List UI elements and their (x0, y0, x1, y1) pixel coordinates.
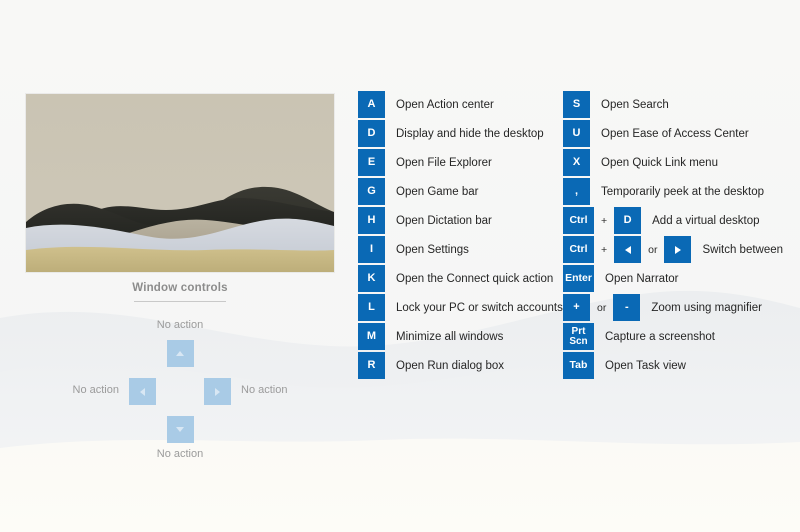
shortcut-description: Open Run dialog box (396, 360, 504, 372)
window-controls-section: Window controls No action No action No a… (26, 282, 334, 432)
key-x[interactable]: X (563, 149, 590, 176)
shortcut-description: Zoom using magnifier (651, 302, 762, 314)
shortcut-row: IOpen Settings (358, 235, 558, 264)
key-enter[interactable]: Enter (563, 265, 594, 292)
key-r[interactable]: R (358, 352, 385, 379)
shortcut-row: +or-Zoom using magnifier (563, 293, 800, 322)
arrow-right-icon[interactable] (664, 236, 691, 263)
shortcut-row: DDisplay and hide the desktop (358, 119, 558, 148)
shortcut-row: HOpen Dictation bar (358, 206, 558, 235)
shortcut-row: AOpen Action center (358, 90, 558, 119)
arrow-left-icon-glyph (625, 246, 631, 254)
shortcut-description: Add a virtual desktop (652, 215, 759, 227)
arrow-left-label: No action (73, 384, 119, 396)
arrow-down-label: No action (26, 448, 334, 460)
key-tab[interactable]: Tab (563, 352, 594, 379)
arrow-right-icon[interactable] (204, 378, 231, 405)
key-i[interactable]: I (358, 236, 385, 263)
shortcut-description: Lock your PC or switch accounts (396, 302, 563, 314)
shortcut-description: Switch between (702, 244, 783, 256)
shortcut-row: ROpen Run dialog box (358, 351, 558, 380)
shortcut-row: Ctrl+orSwitch between (563, 235, 800, 264)
wallpaper-thumbnail (26, 94, 334, 272)
shortcut-row: Ctrl+DAdd a virtual desktop (563, 206, 800, 235)
arrow-up-icon[interactable] (167, 340, 194, 367)
key-g[interactable]: G (358, 178, 385, 205)
key-[interactable]: , (563, 178, 590, 205)
arrow-left-icon[interactable] (614, 236, 641, 263)
key-prt-scn[interactable]: Prt Scn (563, 323, 594, 350)
key-a[interactable]: A (358, 91, 385, 118)
key-s[interactable]: S (563, 91, 590, 118)
shortcut-description: Open Dictation bar (396, 215, 492, 227)
key-ctrl[interactable]: Ctrl (563, 236, 594, 263)
shortcut-description: Open Narrator (605, 273, 679, 285)
arrow-left-icon[interactable] (129, 378, 156, 405)
key-d[interactable]: D (614, 207, 641, 234)
key-ctrl[interactable]: Ctrl (563, 207, 594, 234)
arrow-down-icon[interactable] (167, 416, 194, 443)
shortcut-description: Open the Connect quick action (396, 273, 553, 285)
key-h[interactable]: H (358, 207, 385, 234)
key-u[interactable]: U (563, 120, 590, 147)
shortcut-row: XOpen Quick Link menu (563, 148, 800, 177)
shortcut-description: Temporarily peek at the desktop (601, 186, 764, 198)
shortcut-row: TabOpen Task view (563, 351, 800, 380)
shortcuts-right-column: SOpen SearchUOpen Ease of Access CenterX… (563, 90, 800, 380)
shortcut-description: Open Game bar (396, 186, 478, 198)
shortcuts-left-column: AOpen Action centerDDisplay and hide the… (358, 90, 558, 380)
key-m[interactable]: M (358, 323, 385, 350)
key-d[interactable]: D (358, 120, 385, 147)
shortcut-description: Open Action center (396, 99, 494, 111)
shortcut-description: Capture a screenshot (605, 331, 715, 343)
window-controls-divider (134, 301, 226, 302)
key-l[interactable]: L (358, 294, 385, 321)
shortcut-row: GOpen Game bar (358, 177, 558, 206)
shortcut-row: KOpen the Connect quick action (358, 264, 558, 293)
key-[interactable]: + (563, 294, 590, 321)
shortcut-description: Open File Explorer (396, 157, 492, 169)
wallpaper-thumbnail-art (26, 94, 334, 272)
key-separator-plus: + (601, 244, 607, 256)
shortcut-description: Minimize all windows (396, 331, 503, 343)
arrow-right-icon-glyph (675, 246, 681, 254)
shortcut-row: UOpen Ease of Access Center (563, 119, 800, 148)
key-separator-or: or (597, 302, 606, 314)
shortcut-description: Open Task view (605, 360, 686, 372)
shortcut-description: Open Quick Link menu (601, 157, 718, 169)
shortcut-description: Display and hide the desktop (396, 128, 544, 140)
shortcut-row: EnterOpen Narrator (563, 264, 800, 293)
shortcut-row: EOpen File Explorer (358, 148, 558, 177)
key-[interactable]: - (613, 294, 640, 321)
shortcut-row: Prt ScnCapture a screenshot (563, 322, 800, 351)
key-separator-plus: + (601, 215, 607, 227)
key-e[interactable]: E (358, 149, 385, 176)
shortcut-row: LLock your PC or switch accounts (358, 293, 558, 322)
arrow-right-label: No action (241, 384, 287, 396)
key-k[interactable]: K (358, 265, 385, 292)
arrow-up-label: No action (26, 319, 334, 331)
window-controls-title: Window controls (26, 282, 334, 294)
shortcut-row: ,Temporarily peek at the desktop (563, 177, 800, 206)
shortcut-row: MMinimize all windows (358, 322, 558, 351)
shortcut-description: Open Search (601, 99, 669, 111)
shortcut-description: Open Settings (396, 244, 469, 256)
shortcut-row: SOpen Search (563, 90, 800, 119)
window-controls-grid: No action No action No action No action (26, 312, 334, 432)
shortcut-description: Open Ease of Access Center (601, 128, 749, 140)
key-separator-or: or (648, 244, 657, 256)
